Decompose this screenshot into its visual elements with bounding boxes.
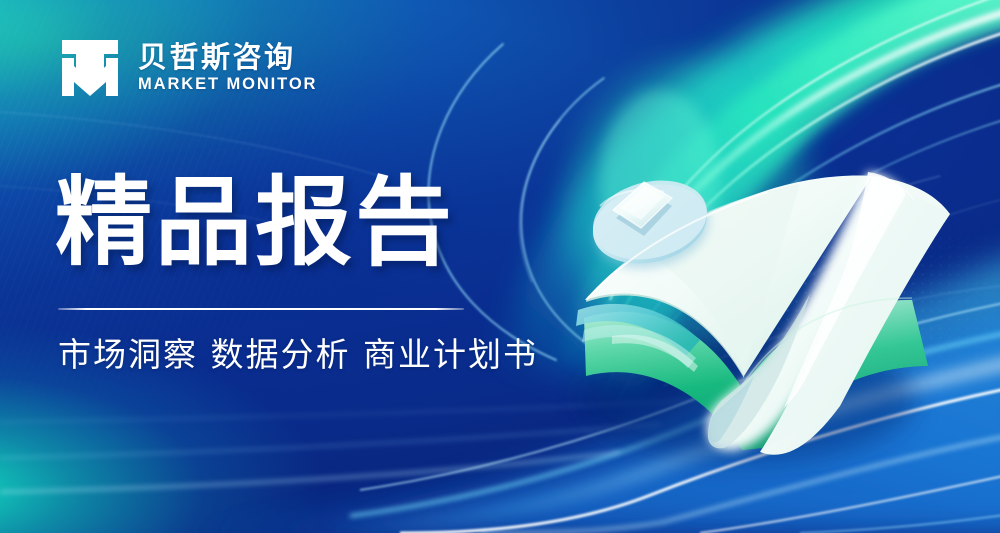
report-banner: 贝哲斯咨询 MARKET MONITOR 精品报告 市场洞察 数据分析 商业计划… [0,0,1000,533]
page-subtitle: 市场洞察 数据分析 商业计划书 [58,335,538,375]
title-divider [58,308,464,310]
brand-text: 贝哲斯咨询 MARKET MONITOR [138,44,317,93]
pie-exploded-slice [613,182,672,236]
pie-chart-disc [585,169,718,280]
green-ribbon-group [500,0,1000,428]
book-left-page [585,176,872,376]
brand-lockup[interactable]: 贝哲斯咨询 MARKET MONITOR [58,36,317,100]
page-title: 精品报告 [55,174,455,273]
book-right-page [760,176,950,455]
market-monitor-m-logo-icon [58,36,122,100]
pie-disc-body [585,173,716,275]
book-spine-highlight [576,304,700,356]
book-page-edges-green [584,300,928,450]
banner-content: 贝哲斯咨询 MARKET MONITOR 精品报告 市场洞察 数据分析 商业计划… [0,0,560,533]
book-curled-page [707,172,906,450]
brand-name-cn: 贝哲斯咨询 [138,44,317,73]
brand-name-en: MARKET MONITOR [138,76,317,93]
